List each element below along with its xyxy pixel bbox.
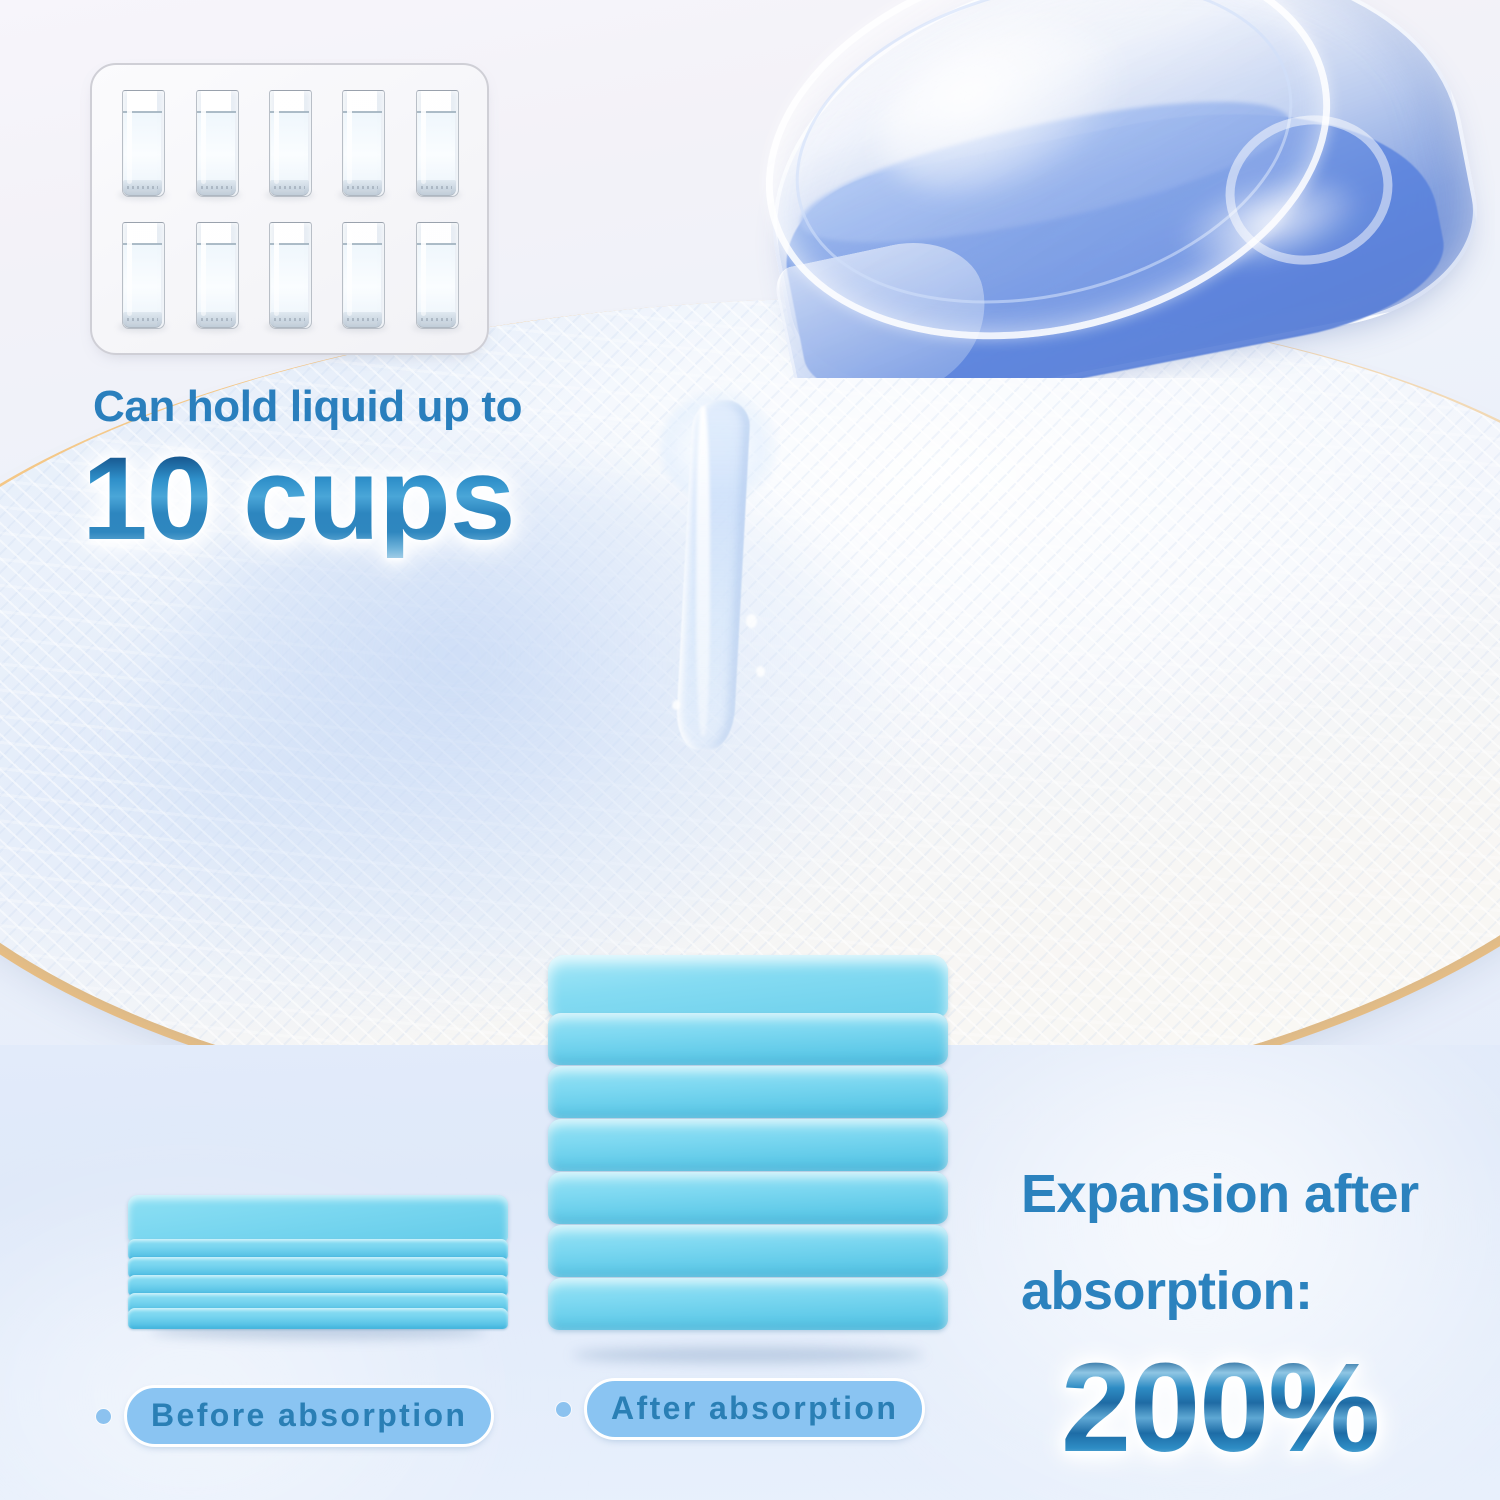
thick-pad-stack-icon <box>548 955 948 1355</box>
water-glass-icon <box>338 222 387 329</box>
product-feature-image: Can hold liquid up to 10 cups Before abs… <box>0 0 1500 1500</box>
water-glass-icon <box>118 90 167 197</box>
thin-pad-stack-icon <box>128 1195 508 1330</box>
water-glass-icon <box>265 222 314 329</box>
water-glass-icon <box>412 222 461 329</box>
water-glass-icon <box>265 90 314 197</box>
bullet-dot-icon <box>556 1402 571 1417</box>
expansion-headline-line1: Expansion after <box>1021 1163 1419 1225</box>
after-absorption-label: After absorption <box>584 1378 925 1440</box>
water-glasses-panel <box>90 63 489 355</box>
water-glass-icon <box>118 222 167 329</box>
water-stream-icon <box>660 400 780 750</box>
droplet-icon <box>746 614 757 628</box>
tilted-glass-pitcher-icon <box>755 0 1495 378</box>
top-section-absorption-capacity: Can hold liquid up to 10 cups <box>0 0 1500 1100</box>
water-glass-icon <box>192 90 241 197</box>
pouring-scene <box>660 0 1500 500</box>
after-absorption-label-row: After absorption <box>556 1378 925 1440</box>
before-absorption-label-row: Before absorption <box>96 1385 494 1447</box>
water-glass-icon <box>338 90 387 197</box>
expansion-value: 200% <box>1061 1345 1379 1471</box>
water-glasses-grid <box>106 77 473 341</box>
droplet-icon <box>756 666 765 677</box>
water-glass-icon <box>192 222 241 329</box>
capacity-headline: Can hold liquid up to <box>93 382 522 432</box>
stream-highlight <box>696 406 710 736</box>
droplet-icon <box>672 700 680 710</box>
capacity-value: 10 cups <box>82 440 514 558</box>
water-glass-icon <box>412 90 461 197</box>
expansion-headline-line2: absorption: <box>1021 1260 1312 1322</box>
bullet-dot-icon <box>96 1409 111 1424</box>
before-absorption-label: Before absorption <box>124 1385 494 1447</box>
